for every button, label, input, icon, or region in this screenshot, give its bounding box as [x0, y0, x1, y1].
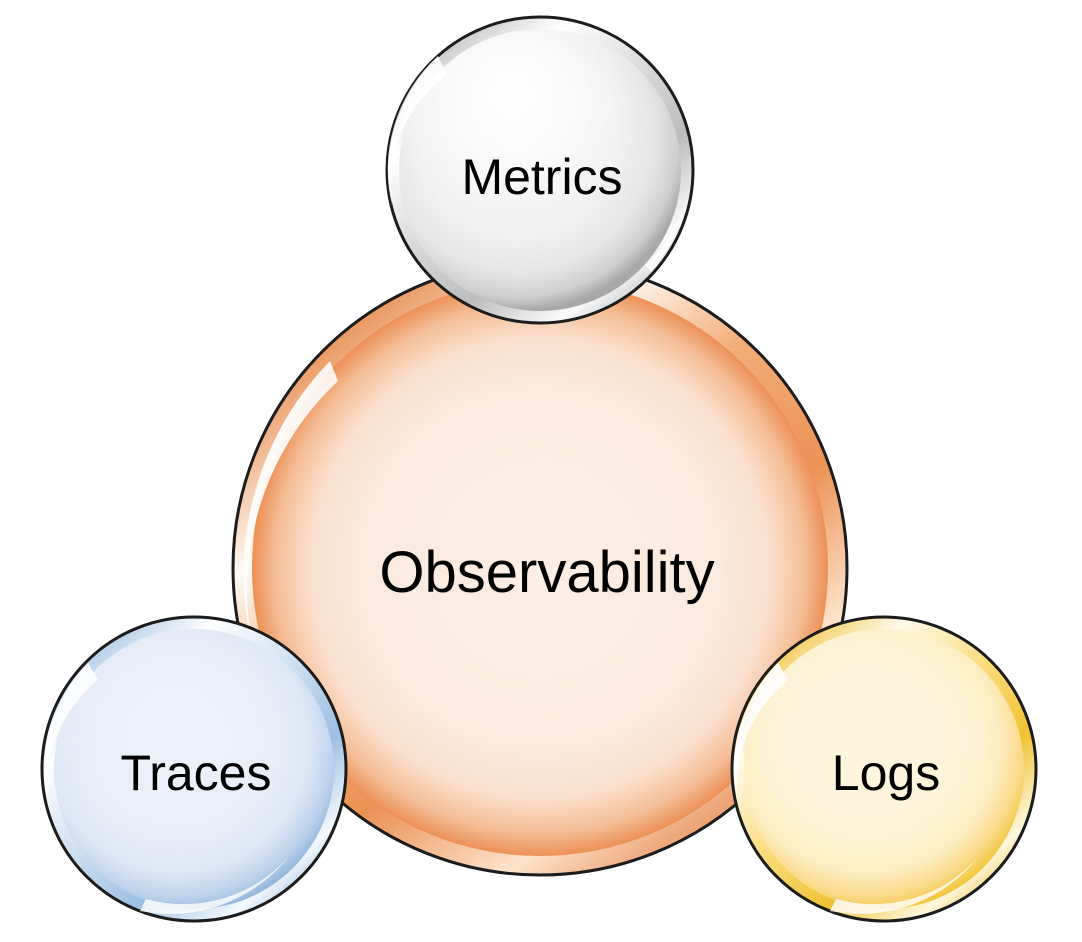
- venn-diagram-canvas: Observability Metrics Traces Logs: [0, 0, 1082, 942]
- traces-label: Traces: [121, 745, 272, 801]
- node-metrics[interactable]: Metrics: [387, 17, 693, 323]
- node-traces[interactable]: Traces: [42, 617, 346, 921]
- logs-label: Logs: [832, 745, 940, 801]
- metrics-label: Metrics: [461, 149, 622, 205]
- node-logs[interactable]: Logs: [732, 617, 1036, 921]
- observability-diagram: Observability Metrics Traces Logs: [0, 0, 1082, 942]
- observability-label: Observability: [379, 540, 714, 605]
